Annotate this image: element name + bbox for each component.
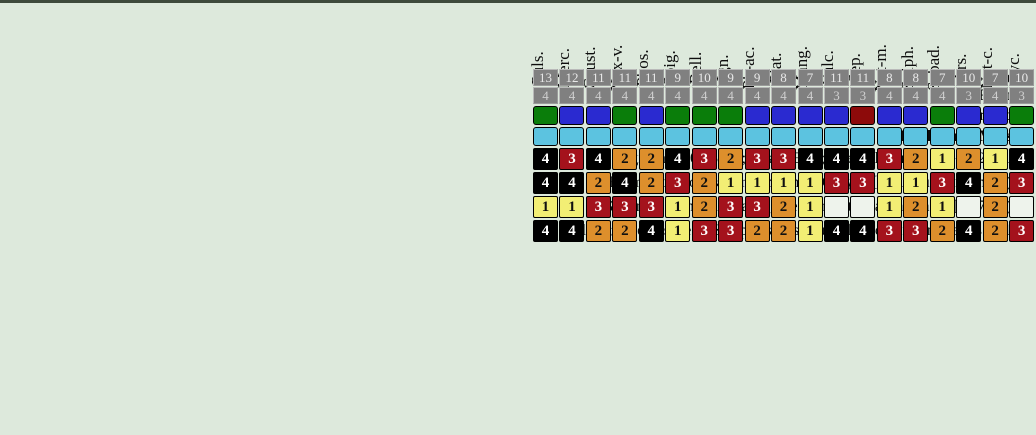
band-cell-blue[interactable] [745,106,770,125]
summary-cell: 4 [665,87,690,104]
band-cell-green[interactable] [930,106,955,125]
grade-cell-empty[interactable] [956,196,981,218]
grade-cell[interactable]: 2 [771,220,796,242]
band-rows: KingdomsTraditional Miasms [0,105,1036,147]
grade-cell[interactable]: 3 [771,148,796,170]
grade-cell[interactable]: 4 [665,148,690,170]
band-cell-cyan[interactable] [639,127,664,146]
band-cell-blue[interactable] [798,106,823,125]
summary-cell: 4 [559,87,584,104]
band-cell-cyan[interactable] [877,127,902,146]
band-cell-green[interactable] [1009,106,1034,125]
band-cell-cyan[interactable] [956,127,981,146]
grade-cell[interactable]: 1 [718,172,743,194]
band-cell-blue[interactable] [559,106,584,125]
summary-cell: 4 [983,87,1008,104]
grade-cell[interactable]: 2 [692,196,717,218]
grade-cell[interactable]: 3 [1009,220,1034,242]
band-cell-green[interactable] [612,106,637,125]
summary-cell: 11 [850,69,875,86]
table-row[interactable]: From Situation & Circumstance; Coryza [c… [0,171,1036,195]
grade-cell[interactable]: 3 [692,220,717,242]
summary-cell: 13 [533,69,558,86]
summary-cell: 7 [983,69,1008,86]
summary-cell: 4 [692,87,717,104]
grade-cell[interactable]: 3 [692,148,717,170]
grade-cell[interactable]: 2 [586,172,611,194]
grade-cell[interactable]: 4 [612,172,637,194]
grade-cell[interactable]: 3 [745,196,770,218]
table-row[interactable]: Regional {001 300}; Head; Ears; Internal… [0,147,1036,171]
grade-cell[interactable]: 3 [877,220,902,242]
summary-cell: 4 [798,87,823,104]
summary-cell: 3 [956,87,981,104]
summary-cell: 9 [718,69,743,86]
summary-cell: 4 [533,87,558,104]
table-row[interactable]: Sleep; Sleeplessness; Sleeplessness, cau… [0,219,1036,243]
grade-cell[interactable]: 4 [586,148,611,170]
summary-cell: 11 [612,69,637,86]
grade-cell[interactable]: 2 [771,196,796,218]
grade-cell[interactable]: 1 [798,196,823,218]
grade-cell[interactable]: 1 [877,196,902,218]
summary-cell: 7 [930,69,955,86]
grade-cell[interactable]: 3 [612,196,637,218]
band-cell-cyan[interactable] [850,127,875,146]
grade-cell[interactable]: 4 [850,148,875,170]
grade-cell[interactable]: 4 [559,172,584,194]
column-header-lyc[interactable]: Lyc. [1009,3,1034,69]
grade-cell[interactable]: 2 [718,148,743,170]
band-cell-cyan[interactable] [1009,127,1034,146]
band-cell-red[interactable] [850,106,875,125]
grade-cell[interactable]: 2 [983,220,1008,242]
grade-cell[interactable]: 2 [930,220,955,242]
summary-cell: 4 [586,87,611,104]
grade-cell[interactable]: 2 [745,220,770,242]
grade-cell[interactable]: 1 [533,196,558,218]
grade-cell[interactable]: 2 [612,220,637,242]
summary-rows: Total13121111119109987111188710710Rubric… [0,69,1036,105]
band-cell-green[interactable] [533,106,558,125]
grade-cell[interactable]: 3 [877,148,902,170]
grade-cell[interactable]: 4 [533,148,558,170]
summary-cell: 9 [745,69,770,86]
summary-cell: 11 [639,69,664,86]
grade-cell[interactable]: 2 [983,172,1008,194]
grade-cell[interactable]: 2 [983,196,1008,218]
band-cell-blue[interactable] [771,106,796,125]
grade-cell[interactable]: 3 [665,172,690,194]
column-header-row: Puls.Merc.Caust.Nux-v.Phos.Spig.Bell.Ign… [0,3,1036,69]
grade-cell[interactable]: 1 [877,172,902,194]
grade-cell[interactable]: 3 [586,196,611,218]
summary-cell: 8 [771,69,796,86]
grade-cell[interactable]: 1 [771,172,796,194]
grade-cell[interactable]: 3 [745,148,770,170]
band-cell-cyan[interactable] [718,127,743,146]
grade-cell[interactable]: 2 [903,196,928,218]
band-cell-blue[interactable] [824,106,849,125]
band-cell-cyan[interactable] [983,127,1008,146]
band-cell-cyan[interactable] [771,127,796,146]
summary-cell: 11 [586,69,611,86]
table-row[interactable]: Generals; Generals; Falling, tendency to… [0,195,1036,219]
grade-cell[interactable]: 3 [1009,172,1034,194]
grade-cell[interactable]: 4 [1009,148,1034,170]
grade-cell[interactable]: 1 [559,196,584,218]
grade-cell[interactable]: 3 [718,196,743,218]
band-row-kingdoms: Kingdoms [0,105,1036,126]
band-cell-cyan[interactable] [692,127,717,146]
summary-cell: 4 [930,87,955,104]
band-cell-cyan[interactable] [824,127,849,146]
summary-cell: 3 [850,87,875,104]
grade-cell[interactable]: 1 [665,220,690,242]
band-cell-cyan[interactable] [903,127,928,146]
grade-cell[interactable]: 4 [533,172,558,194]
grade-cell[interactable]: 1 [798,220,823,242]
grade-cell[interactable]: 2 [639,148,664,170]
summary-cell: 3 [824,87,849,104]
grade-cell[interactable]: 2 [956,148,981,170]
summary-cell: 4 [771,87,796,104]
grade-cell[interactable]: 4 [639,220,664,242]
repertory-analysis-grid: Puls.Merc.Caust.Nux-v.Phos.Spig.Bell.Ign… [0,3,1036,243]
band-cell-cyan[interactable] [665,127,690,146]
band-cell-blue[interactable] [586,106,611,125]
summary-cell: 10 [692,69,717,86]
grade-cell[interactable]: 3 [930,172,955,194]
grade-cell-empty[interactable] [1009,196,1034,218]
summary-cell: 10 [1009,69,1034,86]
band-cell-green[interactable] [718,106,743,125]
grade-cell[interactable]: 3 [824,172,849,194]
summary-cell: 4 [718,87,743,104]
grade-cell[interactable]: 2 [612,148,637,170]
summary-cell: 7 [798,69,823,86]
summary-cell: 4 [745,87,770,104]
summary-cell: 12 [559,69,584,86]
rubric-rows: Regional {001 300}; Head; Ears; Internal… [0,147,1036,243]
grade-cell[interactable]: 1 [745,172,770,194]
summary-row-total: Total13121111119109987111188710710 [0,69,1036,87]
grade-cell[interactable]: 4 [533,220,558,242]
band-cell-blue[interactable] [639,106,664,125]
grade-cell-empty[interactable] [824,196,849,218]
grade-cell-empty[interactable] [850,196,875,218]
band-cell-blue[interactable] [877,106,902,125]
band-cell-blue[interactable] [903,106,928,125]
grade-cell[interactable]: 2 [586,220,611,242]
grade-cell[interactable]: 1 [983,148,1008,170]
grade-cell[interactable]: 1 [665,196,690,218]
band-cell-blue[interactable] [956,106,981,125]
grade-cell[interactable]: 1 [930,196,955,218]
band-cell-green[interactable] [665,106,690,125]
grade-cell[interactable]: 2 [903,148,928,170]
band-cell-cyan[interactable] [745,127,770,146]
summary-cell: 11 [824,69,849,86]
grade-cell[interactable]: 4 [956,220,981,242]
grade-cell[interactable]: 3 [850,172,875,194]
band-cell-cyan[interactable] [612,127,637,146]
band-cell-cyan[interactable] [586,127,611,146]
grade-cell[interactable]: 4 [798,148,823,170]
grade-cell[interactable]: 2 [639,172,664,194]
grade-cell[interactable]: 3 [718,220,743,242]
summary-cell: 4 [903,87,928,104]
grade-cell[interactable]: 4 [850,220,875,242]
band-cell-cyan[interactable] [559,127,584,146]
grade-cell[interactable]: 1 [903,172,928,194]
grade-cell[interactable]: 4 [824,148,849,170]
summary-cell: 8 [877,69,902,86]
grade-cell[interactable]: 1 [798,172,823,194]
summary-cell: 3 [1009,87,1034,104]
grade-cell[interactable]: 1 [930,148,955,170]
summary-cell: 8 [903,69,928,86]
grade-cell[interactable]: 4 [956,172,981,194]
band-cell-blue[interactable] [983,106,1008,125]
grade-cell[interactable]: 4 [824,220,849,242]
summary-cell: 4 [877,87,902,104]
summary-cell: 4 [612,87,637,104]
grade-cell[interactable]: 3 [903,220,928,242]
summary-cell: 9 [665,69,690,86]
band-cell-cyan[interactable] [533,127,558,146]
band-cell-cyan[interactable] [798,127,823,146]
summary-cell: 4 [639,87,664,104]
band-cell-green[interactable] [692,106,717,125]
band-cell-cyan[interactable] [930,127,955,146]
grade-cell[interactable]: 4 [559,220,584,242]
band-row-traditional-miasms: Traditional Miasms [0,126,1036,147]
grade-cell[interactable]: 3 [559,148,584,170]
grade-cell[interactable]: 3 [639,196,664,218]
summary-row-rubrics: Rubrics4444444444433444343 [0,87,1036,105]
grade-cell[interactable]: 2 [692,172,717,194]
summary-cell: 10 [956,69,981,86]
